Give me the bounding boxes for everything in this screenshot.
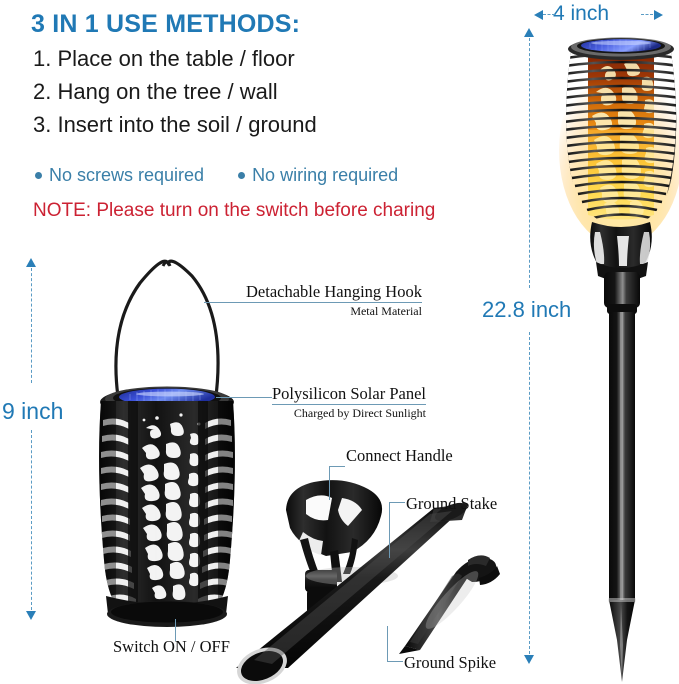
leader-line-ground-stake [389,502,390,558]
callout-hanging-hook: Detachable Hanging Hook Metal Material [246,283,422,320]
callout-title: Detachable Hanging Hook [246,283,422,301]
leader-line-connect-handle-h [329,466,345,467]
ground-spike [399,555,500,654]
callout-ground-stake: Ground Stake [406,494,497,514]
leader-line-ground-spike [387,626,388,662]
hanging-lantern [96,261,240,628]
callout-subtitle: Charged by Direct Sunlight [272,405,426,422]
solar-torch-light [558,38,679,683]
torch-collar [604,272,640,308]
callout-connect-handle: Connect Handle [346,446,453,466]
callout-subtitle: Metal Material [246,303,422,320]
leader-line-hanging-hook [204,302,246,303]
product-illustration [0,0,679,684]
callout-ground-spike: Ground Spike [404,653,496,673]
callout-title: Polysilicon Solar Panel [272,385,426,403]
product-infographic: 3 IN 1 USE METHODS: 1. Place on the tabl… [0,0,679,684]
leader-line-solar-panel [216,397,272,398]
callout-solar-panel: Polysilicon Solar Panel Charged by Direc… [272,385,426,422]
leader-line-connect-handle [329,466,330,500]
leader-line-ground-stake-h [389,502,405,503]
leader-line-ground-spike-h [387,661,403,662]
callout-switch: Switch ON / OFF [113,637,230,657]
